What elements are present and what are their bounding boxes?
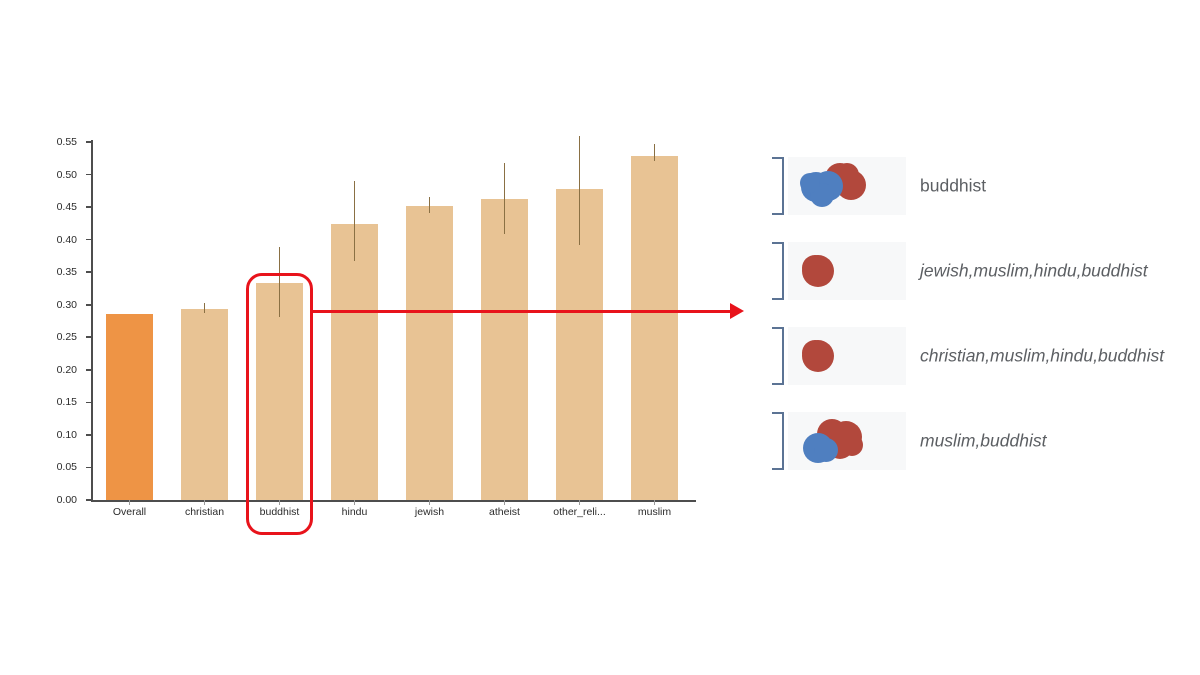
bar-atheist [481, 199, 528, 500]
y-tick-mark [86, 174, 92, 176]
y-tick-mark [86, 239, 92, 241]
screenshot-root: 0.000.050.100.150.200.250.300.350.400.45… [0, 0, 1200, 675]
y-tick-label: 0.30 [57, 299, 77, 311]
x-tick-mark [654, 500, 655, 505]
blob-red-single-icon [788, 242, 906, 300]
x-tick-mark [579, 500, 580, 505]
y-tick-label: 0.00 [57, 494, 77, 506]
y-tick-mark [86, 499, 92, 501]
error-bar [579, 136, 580, 245]
legend-item[interactable]: buddhist [772, 155, 1192, 217]
y-tick-mark [86, 369, 92, 371]
bracket-icon [772, 157, 784, 215]
y-tick-label: 0.35 [57, 266, 77, 278]
blob-blue-red-cluster-icon [788, 157, 906, 215]
callout-arrow-head [730, 303, 744, 319]
x-tick-mark [204, 500, 205, 505]
y-tick-mark [86, 336, 92, 338]
x-tick-mark [129, 500, 130, 505]
blob-red-cluster-blue-icon [788, 412, 906, 470]
x-axis-label: atheist [489, 506, 520, 518]
x-axis-label: muslim [638, 506, 671, 518]
x-axis-label: christian [185, 506, 224, 518]
legend-item-label: christian,muslim,hindu,buddhist [920, 346, 1164, 367]
y-tick-mark [86, 434, 92, 436]
y-axis-line [91, 140, 93, 502]
y-tick-label: 0.20 [57, 364, 77, 376]
y-tick-label: 0.10 [57, 429, 77, 441]
bar-chart: 0.000.050.100.150.200.250.300.350.400.45… [0, 0, 740, 560]
x-tick-mark [504, 500, 505, 505]
error-bar [354, 181, 355, 261]
blob-red-single-icon [788, 327, 906, 385]
bar-muslim [631, 156, 678, 500]
x-axis-line [91, 500, 696, 502]
error-bar [279, 247, 280, 317]
error-bar [204, 303, 205, 313]
bar-jewish [406, 206, 453, 500]
bar-overall [106, 314, 153, 500]
y-tick-label: 0.05 [57, 461, 77, 473]
x-axis-label: Overall [113, 506, 146, 518]
x-axis-label: other_reli... [553, 506, 606, 518]
callout-arrow-line [312, 310, 732, 313]
y-tick-label: 0.25 [57, 331, 77, 343]
legend-item-label: jewish,muslim,hindu,buddhist [920, 261, 1148, 282]
error-bar [429, 197, 430, 213]
x-axis-label: jewish [415, 506, 444, 518]
error-bar [504, 163, 505, 233]
y-tick-mark [86, 304, 92, 306]
x-axis-label: buddhist [260, 506, 300, 518]
bar-christian [181, 309, 228, 500]
x-tick-mark [354, 500, 355, 505]
y-tick-label: 0.45 [57, 201, 77, 213]
y-tick-label: 0.55 [57, 136, 77, 148]
y-tick-mark [86, 141, 92, 143]
x-tick-mark [279, 500, 280, 505]
bracket-icon [772, 327, 784, 385]
x-tick-mark [429, 500, 430, 505]
y-tick-label: 0.40 [57, 234, 77, 246]
y-tick-mark [86, 402, 92, 404]
y-tick-mark [86, 271, 92, 273]
error-bar [654, 144, 655, 161]
x-axis-label: hindu [342, 506, 368, 518]
legend-item-label: buddhist [920, 176, 986, 197]
y-tick-label: 0.15 [57, 396, 77, 408]
y-tick-mark [86, 206, 92, 208]
legend-item[interactable]: muslim,buddhist [772, 410, 1192, 472]
bracket-icon [772, 412, 784, 470]
legend-item[interactable]: christian,muslim,hindu,buddhist [772, 325, 1192, 387]
bracket-icon [772, 242, 784, 300]
legend-panel: buddhist jewish,muslim,hindu,buddhist ch… [772, 155, 1192, 495]
bar-hindu [331, 224, 378, 500]
legend-item-label: muslim,buddhist [920, 431, 1046, 452]
y-tick-label: 0.50 [57, 169, 77, 181]
legend-item[interactable]: jewish,muslim,hindu,buddhist [772, 240, 1192, 302]
y-tick-mark [86, 467, 92, 469]
